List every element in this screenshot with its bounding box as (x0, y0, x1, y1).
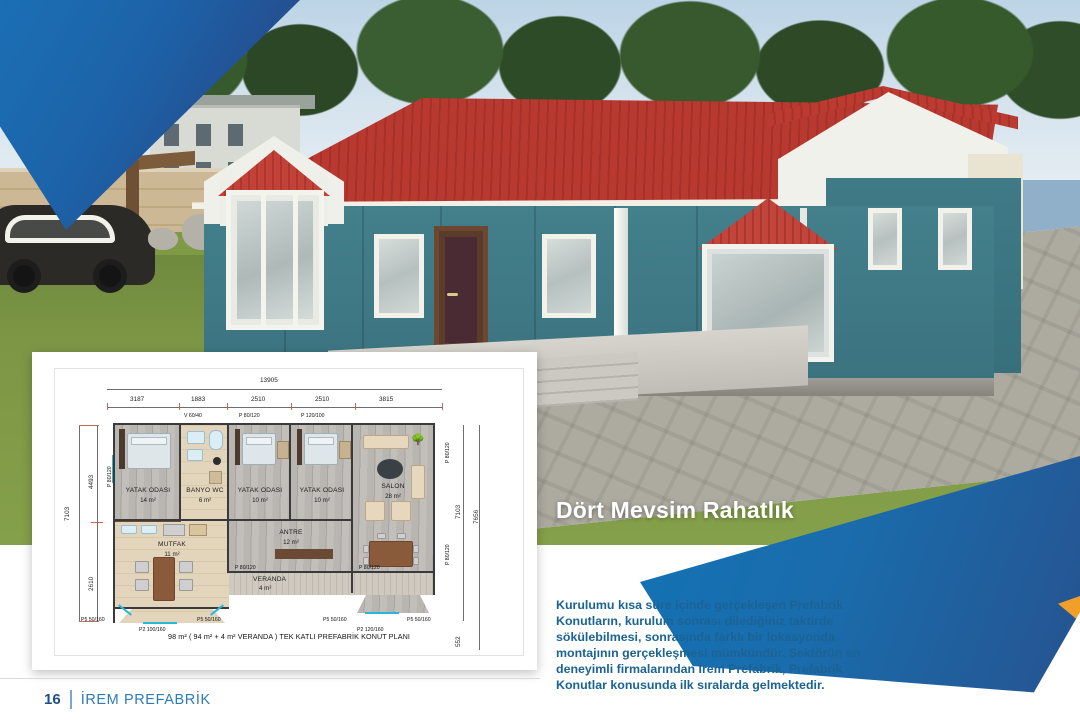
room-yatak-odasi-10b: YATAK ODASI 10 m² (291, 425, 353, 521)
opening-label-interior-2: P 80/120 (359, 565, 380, 571)
page-title: Dört Mevsim Rahatlık (556, 497, 794, 524)
room-label: YATAK ODASI (115, 487, 181, 494)
opening-label-right-lower: P 80/120 (445, 544, 451, 565)
room-mutfak: MUTFAK 11 m² (115, 521, 229, 609)
dim-right-outer: 7656 (473, 510, 480, 524)
brand-name: İREM PREFABRİK (81, 692, 211, 708)
opening-label-right-upper: P 80/120 (445, 442, 451, 463)
dim-top-3: 2510 (251, 396, 265, 403)
room-area: 6 m² (181, 497, 229, 504)
opening-label-top-1: V 60/40 (184, 413, 202, 419)
dim-top-1: 3187 (130, 396, 144, 403)
room-area: 4 m² (259, 585, 271, 592)
body-paragraph: Kurulumu kısa süre içinde gerçekleşen Pr… (556, 597, 886, 693)
floorplan-drawing: 13905 3187 1883 2510 2510 3815 V 60/40 P… (54, 368, 524, 656)
floorplan-caption: 98 m² ( 94 m² + 4 m² VERANDA ) TEK KATLI… (55, 632, 523, 641)
room-salon-bay (357, 593, 429, 613)
opening-label-bottom-right-2: P5 50/160 (407, 617, 431, 623)
window-front-right (542, 234, 596, 318)
room-area: 11 m² (115, 551, 229, 558)
dim-top-2: 1883 (191, 396, 205, 403)
page-footer: 16 İREM PREFABRİK (44, 690, 211, 709)
room-label: YATAK ODASI (229, 487, 291, 494)
opening-label-top-2: P 80/120 (239, 413, 260, 419)
dim-left-upper: 4493 (88, 475, 95, 489)
dim-top-4: 2510 (315, 396, 329, 403)
window-right-wing-a (868, 208, 902, 270)
floorplan-card: 13905 3187 1883 2510 2510 3815 V 60/40 P… (32, 352, 537, 670)
room-label: ANTRE (229, 529, 353, 536)
opening-label-interior-1: P 80/120 (235, 565, 256, 571)
footer-divider (0, 678, 540, 679)
dim-top-5: 3815 (379, 396, 393, 403)
page-canvas: Dört Mevsim Rahatlık Kurulumu kısa süre … (0, 0, 1080, 720)
window-front-left (374, 234, 424, 318)
opening-label-bottom-right-1: P5 50/160 (323, 617, 347, 623)
page-number: 16 (44, 691, 61, 708)
room-yatak-odasi-14: YATAK ODASI 14 m² (115, 425, 181, 521)
opening-label-top-3: P 120/100 (301, 413, 325, 419)
room-area: 12 m² (229, 539, 353, 546)
room-label: YATAK ODASI (291, 487, 353, 494)
dim-overall-width: 13905 (260, 377, 278, 384)
room-area: 10 m² (229, 497, 291, 504)
rock (148, 228, 178, 250)
left-bay-window (226, 190, 324, 330)
dim-left-lower: 2610 (88, 577, 95, 591)
room-area: 14 m² (115, 497, 181, 504)
room-label: SALON (353, 483, 433, 490)
footer-separator (70, 690, 72, 709)
room-area: 28 m² (353, 493, 433, 500)
room-label: BANYO WC (181, 487, 229, 494)
room-veranda: VERANDA 4 m² (229, 573, 433, 595)
opening-label-bottom-left-2: P5 50/160 (197, 617, 221, 623)
dim-left-total: 7103 (64, 507, 71, 521)
window-right-wing-b (938, 208, 972, 270)
opening-label-bottom-left-1: P5 50/160 (81, 617, 105, 623)
room-label: MUTFAK (115, 541, 229, 548)
room-banyo-wc: BANYO WC 6 m² (181, 425, 229, 521)
entrance-door (434, 226, 488, 354)
room-label: VERANDA (253, 576, 286, 583)
room-area: 10 m² (291, 497, 353, 504)
room-yatak-odasi-10a: YATAK ODASI 10 m² (229, 425, 291, 521)
dim-right-inner: 7103 (455, 505, 462, 519)
prefab-house (178, 58, 1080, 358)
